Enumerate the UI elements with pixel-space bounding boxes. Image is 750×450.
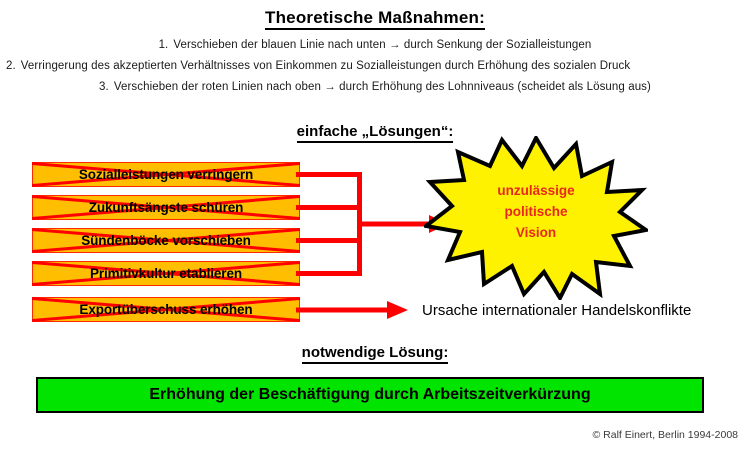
rejected-measure-label: Sozialleistungen verringern (79, 167, 253, 182)
copyright-notice: © Ralf Einert, Berlin 1994-2008 (593, 429, 738, 441)
rejected-measure-box: Primitivkultur etablieren (32, 261, 300, 286)
rejected-measure-box: Zukunftsängste schüren (32, 195, 300, 220)
export-arrow (296, 296, 416, 324)
solution-box-label: Erhöhung der Beschäftigung durch Arbeits… (149, 386, 590, 404)
measure-item-1: 1.Verschieben der blauen Linie nach unte… (0, 39, 750, 51)
necessary-solution-heading-text: notwendige Lösung: (302, 344, 449, 364)
measure-number-1: 1. (159, 39, 169, 51)
rejected-measure-box: Sozialleistungen verringern (32, 162, 300, 187)
rejected-measure-label: Primitivkultur etablieren (90, 266, 242, 281)
necessary-solution-heading: notwendige Lösung: (0, 344, 750, 361)
trade-conflict-note: Ursache internationaler Handelskonflikte (422, 302, 691, 319)
page-title: Theoretische Maßnahmen: (0, 8, 750, 28)
page-title-text: Theoretische Maßnahmen: (265, 8, 485, 30)
starburst-shape: unzulässige politische Vision (424, 136, 648, 300)
measure-text-1: Verschieben der blauen Linie nach unten … (173, 39, 591, 51)
measure-item-2: 2.Verringerung des akzeptierten Verhältn… (6, 60, 630, 72)
measure-text-3: Verschieben der roten Linien nach oben →… (114, 81, 651, 93)
starburst-icon (424, 136, 648, 300)
solution-box: Erhöhung der Beschäftigung durch Arbeits… (36, 377, 704, 413)
rejected-measure-box: Exportüberschuss erhöhen (32, 297, 300, 322)
measure-number-3: 3. (99, 81, 109, 93)
rejected-measure-label: Exportüberschuss erhöhen (79, 302, 252, 317)
measure-number-2: 2. (6, 60, 16, 72)
rejected-measure-label: Sündenböcke vorschieben (81, 233, 251, 248)
diagram-canvas: Theoretische Maßnahmen: 1.Verschieben de… (0, 0, 750, 450)
rejected-measure-box: Sündenböcke vorschieben (32, 228, 300, 253)
rejected-measure-label: Zukunftsängste schüren (89, 200, 244, 215)
measure-item-3: 3.Verschieben der roten Linien nach oben… (0, 81, 750, 93)
measure-text-2: Verringerung des akzeptierten Verhältnis… (21, 60, 630, 72)
